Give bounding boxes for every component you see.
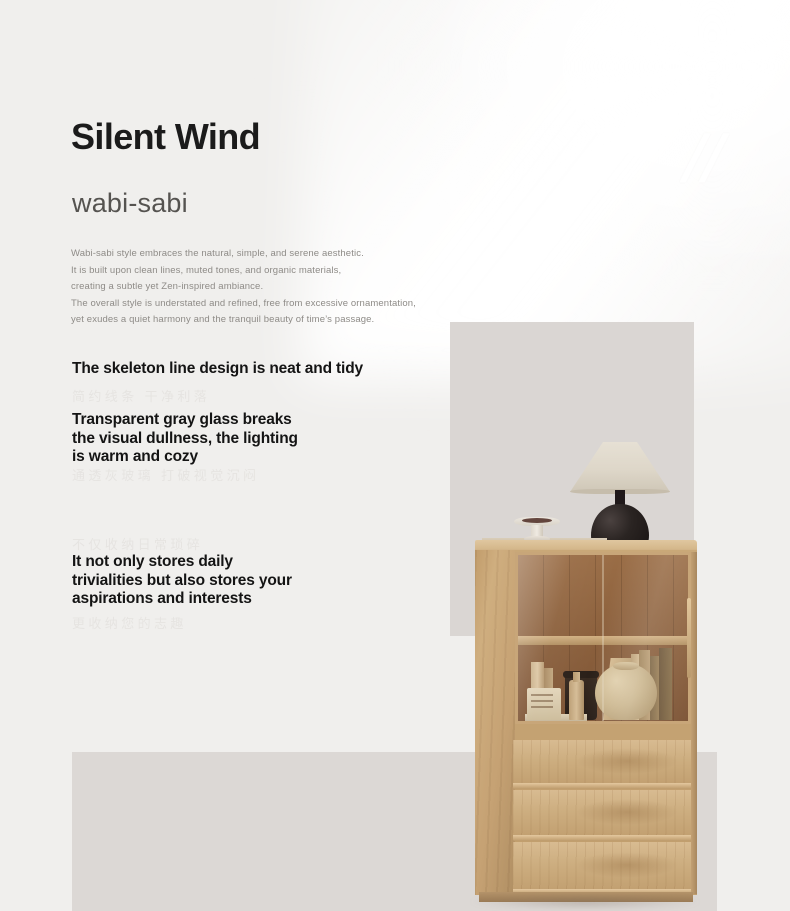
glass-door-frame	[515, 552, 691, 724]
drawer	[513, 740, 697, 784]
ghost-watermark-text: 更收纳您的志趣	[72, 617, 187, 630]
drawer-pull-lip	[513, 783, 697, 789]
display-cabinet	[475, 540, 697, 902]
lamp-shade	[570, 442, 670, 492]
feature-line: trivialities but also stores your	[72, 572, 292, 591]
drawer	[513, 842, 697, 890]
description-line: The overall style is understated and ref…	[71, 296, 471, 313]
drawer-wood-grain	[513, 740, 697, 784]
ghost-watermark-text: 简约线条 干净利落	[72, 390, 210, 403]
drawer-stack	[513, 740, 697, 895]
page-title: Silent Wind	[71, 119, 260, 155]
description-line: creating a subtle yet Zen-inspired ambia…	[71, 279, 471, 296]
drawer-pull-lip	[513, 835, 697, 841]
ghost-watermark-text: 不仅收纳日常琐碎	[72, 538, 203, 551]
cabinet-floor-shadow	[470, 896, 700, 910]
feature-skeleton-line: The skeleton line design is neat and tid…	[72, 360, 363, 379]
quote-mark-icon: //	[684, 127, 722, 187]
drawer-wood-grain	[513, 842, 697, 890]
page-subtitle: wabi-sabi	[72, 188, 188, 219]
tray-contents	[522, 518, 552, 523]
description-paragraph: Wabi-sabi style embraces the natural, si…	[71, 246, 471, 329]
description-line: It is built upon clean lines, muted tone…	[71, 263, 471, 280]
feature-line: aspirations and interests	[72, 590, 292, 609]
cabinet-side-panel	[475, 550, 515, 895]
cabinet-right-edge	[691, 552, 697, 894]
feature-storage: It not only stores daily trivialities bu…	[72, 553, 292, 609]
feature-line: is warm and cozy	[72, 448, 298, 467]
description-line: Wabi-sabi style embraces the natural, si…	[71, 246, 471, 263]
ghost-watermark-text: 通透灰玻璃 打破视觉沉闷	[72, 469, 259, 482]
feature-gray-glass: Transparent gray glass breaks the visual…	[72, 411, 298, 467]
feature-line: the visual dullness, the lighting	[72, 430, 298, 449]
product-photo	[440, 310, 790, 911]
drawer-wood-grain	[513, 790, 697, 836]
description-line: yet exudes a quiet harmony and the tranq…	[71, 312, 471, 329]
feature-line: Transparent gray glass breaks	[72, 411, 298, 430]
feature-line: It not only stores daily	[72, 553, 292, 572]
side-wood-grain	[475, 550, 515, 895]
drawer	[513, 790, 697, 836]
feature-line: The skeleton line design is neat and tid…	[72, 360, 363, 379]
